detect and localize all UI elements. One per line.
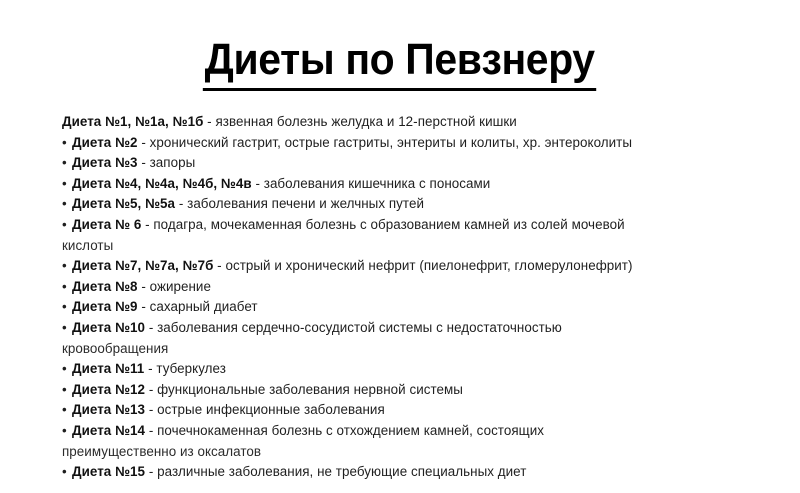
diet-list-item: •Диета №5, №5а - заболевания печени и же… (58, 194, 768, 215)
diet-description: острые инфекционные заболевания (157, 402, 385, 417)
diet-number-label: Диета №1, №1а, №1б (62, 114, 203, 129)
continuation-text: кислоты (62, 238, 113, 253)
separator-dash: - (138, 279, 150, 294)
diet-number-label: Диета №15 (72, 464, 145, 479)
diet-list-item: •Диета № 6 - подагра, мочекаменная болез… (58, 215, 768, 236)
diet-description: запоры (150, 155, 196, 170)
diet-list: Диета №1, №1а, №1б - язвенная болезнь же… (58, 112, 768, 483)
bullet-icon: • (62, 153, 67, 174)
diet-description: почечнокаменная болезнь с отхождением ка… (157, 423, 544, 438)
continuation-text: кровообращения (62, 341, 168, 356)
diet-description: заболевания сердечно-сосудистой системы … (157, 320, 562, 335)
bullet-icon: • (62, 256, 67, 277)
diet-description: заболевания печени и желчных путей (187, 196, 424, 211)
separator-dash: - (141, 217, 153, 232)
diet-number-label: Диета №10 (72, 320, 145, 335)
diet-number-label: Диета №8 (72, 279, 138, 294)
diet-number-label: Диета №11 (72, 361, 144, 376)
separator-dash: - (175, 196, 187, 211)
separator-dash: - (145, 464, 157, 479)
bullet-icon: • (62, 462, 67, 483)
diet-list-item: Диета №1, №1а, №1б - язвенная болезнь же… (58, 112, 768, 133)
diet-number-label: Диета №13 (72, 402, 145, 417)
separator-dash: - (145, 402, 157, 417)
diet-number-label: Диета №5, №5а (72, 196, 175, 211)
diet-list-item: •Диета №13 - острые инфекционные заболев… (58, 400, 768, 421)
diet-description: ожирение (150, 279, 211, 294)
diet-list-item: •Диета №8 - ожирение (58, 277, 768, 298)
diet-number-label: Диета №4, №4а, №4б, №4в (72, 176, 252, 191)
bullet-icon: • (62, 133, 67, 154)
diet-number-label: Диета №2 (72, 135, 138, 150)
document-page: Диеты по Певзнеру Диета №1, №1а, №1б - я… (0, 0, 800, 493)
separator-dash: - (138, 155, 150, 170)
diet-list-item: •Диета №2 - хронический гастрит, острые … (58, 133, 768, 154)
bullet-icon: • (62, 380, 67, 401)
bullet-icon: • (62, 194, 67, 215)
diet-list-item: •Диета №12 - функциональные заболевания … (58, 380, 768, 401)
bullet-icon: • (62, 318, 67, 339)
separator-dash: - (145, 320, 157, 335)
bullet-icon: • (62, 421, 67, 442)
bullet-icon: • (62, 297, 67, 318)
bullet-icon: • (62, 174, 67, 195)
separator-dash: - (138, 299, 150, 314)
diet-description: подагра, мочекаменная болезнь с образова… (153, 217, 624, 232)
diet-description: туберкулез (156, 361, 226, 376)
separator-dash: - (145, 382, 157, 397)
diet-description: сахарный диабет (150, 299, 258, 314)
separator-dash: - (145, 423, 157, 438)
diet-number-label: Диета №14 (72, 423, 145, 438)
diet-number-label: Диета №3 (72, 155, 138, 170)
diet-list-item: •Диета №15 - различные заболевания, не т… (58, 462, 768, 483)
bullet-icon: • (62, 277, 67, 298)
bullet-icon: • (62, 215, 67, 236)
diet-number-label: Диета №9 (72, 299, 138, 314)
diet-description: острый и хронический нефрит (пиелонефрит… (225, 258, 632, 273)
diet-number-label: Диета №7, №7а, №7б (72, 258, 213, 273)
separator-dash: - (138, 135, 150, 150)
diet-list-item: •Диета №3 - запоры (58, 153, 768, 174)
diet-number-label: Диета № 6 (72, 217, 141, 232)
diet-description: функциональные заболевания нервной систе… (157, 382, 463, 397)
diet-line-continuation: кровообращения (58, 339, 768, 360)
separator-dash: - (252, 176, 264, 191)
diet-list-item: •Диета №7, №7а, №7б - острый и хроническ… (58, 256, 768, 277)
diet-description: различные заболевания, не требующие спец… (157, 464, 526, 479)
title-container: Диеты по Певзнеру (0, 8, 800, 120)
separator-dash: - (144, 361, 156, 376)
separator-dash: - (213, 258, 225, 273)
separator-dash: - (203, 114, 215, 129)
diet-list-item: •Диета №14 - почечнокаменная болезнь с о… (58, 421, 768, 442)
diet-description: хронический гастрит, острые гастриты, эн… (150, 135, 632, 150)
page-title: Диеты по Певзнеру (203, 37, 597, 90)
diet-line-continuation: кислоты (58, 236, 768, 257)
diet-list-item: •Диета №11 - туберкулез (58, 359, 768, 380)
diet-line-continuation: преимущественно из оксалатов (58, 442, 768, 463)
bullet-icon: • (62, 359, 67, 380)
diet-number-label: Диета №12 (72, 382, 145, 397)
continuation-text: преимущественно из оксалатов (62, 444, 261, 459)
diet-description: заболевания кишечника с поносами (264, 176, 491, 191)
diet-list-item: •Диета №10 - заболевания сердечно-сосуди… (58, 318, 768, 339)
bullet-icon: • (62, 400, 67, 421)
diet-list-item: •Диета №9 - сахарный диабет (58, 297, 768, 318)
diet-list-item: •Диета №4, №4а, №4б, №4в - заболевания к… (58, 174, 768, 195)
diet-description: язвенная болезнь желудка и 12-перстной к… (215, 114, 516, 129)
